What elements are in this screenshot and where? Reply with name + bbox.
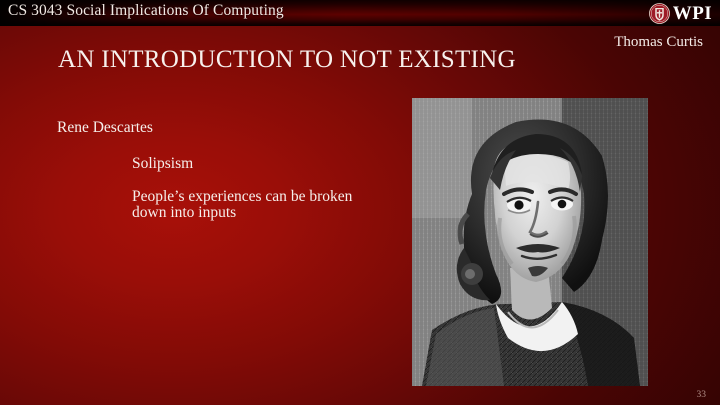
rene-descartes-portrait <box>412 98 648 386</box>
wpi-seal-icon <box>649 3 670 24</box>
bullet-level-2: Solipsism <box>57 156 387 172</box>
wpi-logo: WPI <box>649 1 712 25</box>
bullet-level-3-line-1: People’s experiences can <box>57 188 287 205</box>
slide-title: AN INTRODUCTION TO NOT EXISTING <box>58 46 516 74</box>
bullet-level-3: People’s experiences can be broken down … <box>57 189 387 220</box>
wpi-wordmark: WPI <box>673 4 712 23</box>
bullet-level-1: Rene Descartes <box>57 120 387 136</box>
author-name: Thomas Curtis <box>614 34 703 51</box>
slide-header-bar: CS 3043 Social Implications Of Computing… <box>0 0 720 26</box>
slide-body: Rene Descartes Solipsism People’s experi… <box>57 120 387 220</box>
presentation-slide: CS 3043 Social Implications Of Computing… <box>0 0 720 405</box>
course-title: CS 3043 Social Implications Of Computing <box>8 2 284 20</box>
slide-number: 33 <box>697 390 707 400</box>
